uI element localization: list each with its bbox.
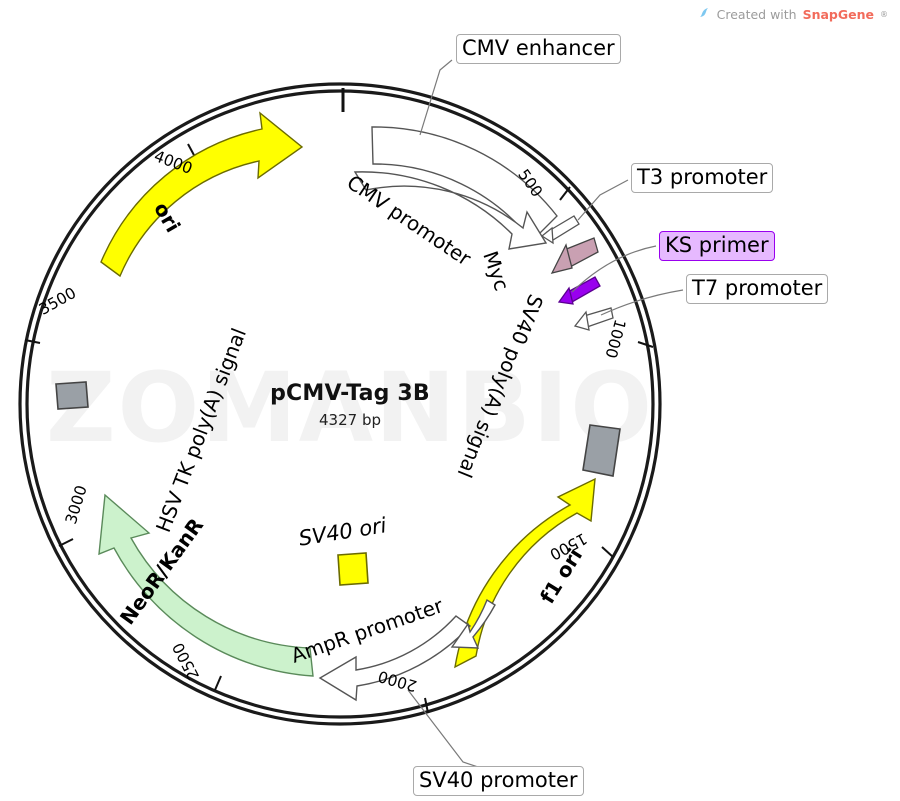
feature-neor-kanr[interactable] bbox=[99, 495, 313, 676]
feature-ori[interactable] bbox=[101, 113, 302, 276]
credit-text: Created with bbox=[717, 7, 797, 22]
snapgene-logo-icon bbox=[697, 6, 711, 23]
callout-t3-promoter[interactable]: T3 promoter bbox=[631, 163, 773, 193]
plasmid-map-canvas: ZOMANBIO bbox=[0, 0, 900, 801]
feature-t7-promoter-head[interactable] bbox=[575, 312, 589, 330]
plasmid-name: pCMV-Tag 3B bbox=[0, 381, 700, 406]
callout-cmv-enhancer[interactable]: CMV enhancer bbox=[456, 34, 621, 64]
feature-sv40-polya-signal[interactable] bbox=[583, 425, 620, 476]
credit-trademark: ® bbox=[880, 10, 888, 19]
feature-sv40-ori[interactable] bbox=[338, 553, 368, 585]
credit-brand: SnapGene bbox=[803, 7, 874, 22]
callout-t7-promoter[interactable]: T7 promoter bbox=[686, 274, 828, 304]
callout-sv40-promoter[interactable]: SV40 promoter bbox=[413, 766, 584, 796]
plasmid-size: 4327 bp bbox=[0, 411, 700, 429]
callout-ks-primer[interactable]: KS primer bbox=[659, 231, 775, 261]
snapgene-credit: Created with SnapGene ® bbox=[697, 6, 888, 23]
